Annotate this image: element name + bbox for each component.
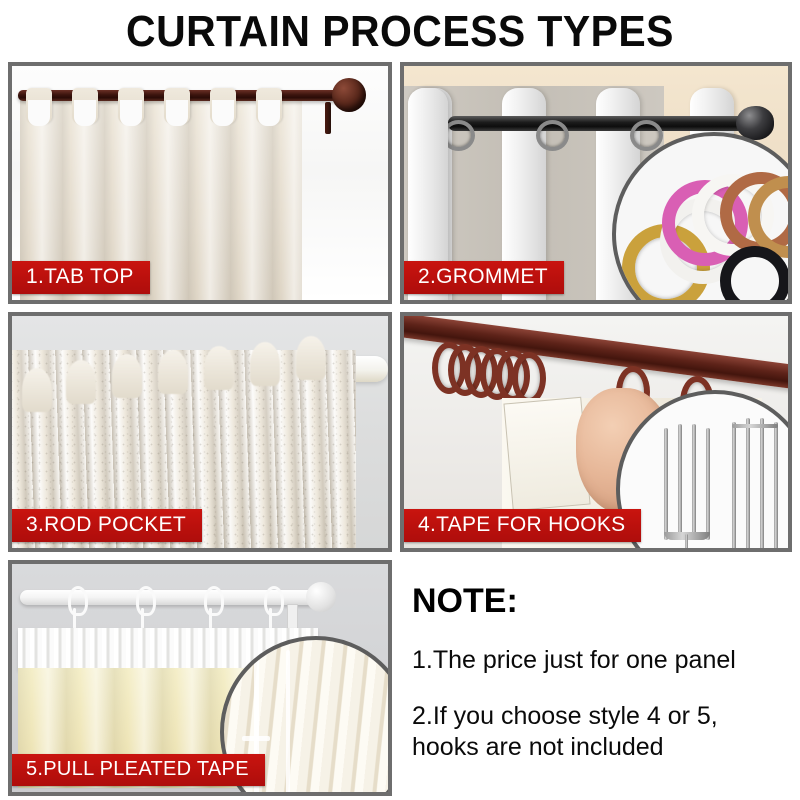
curtain-ring <box>512 352 546 404</box>
curtain-clip-ring <box>136 586 156 616</box>
note-line-2: 2.If you choose style 4 or 5, hooks are … <box>412 701 790 763</box>
pleat-hook-icon <box>664 428 668 540</box>
panel-tape-for-hooks[interactable]: 4.TAPE FOR HOOKS <box>400 312 792 552</box>
tab-gap <box>74 100 96 126</box>
pleat-hook-crossbar <box>732 424 778 428</box>
grommet-ring <box>630 120 663 151</box>
curtain-rod <box>448 116 748 131</box>
gather-crest <box>22 368 52 412</box>
tape-cord <box>286 650 290 792</box>
tab-gap <box>166 100 188 126</box>
gather-crest <box>66 360 96 404</box>
page-title: CURTAIN PROCESS TYPES <box>28 6 772 58</box>
rod-bracket <box>325 102 331 134</box>
pleat-hook-icon <box>746 418 750 548</box>
pleat-hook-icon <box>774 422 778 548</box>
panel-caption: 2.GROMMET <box>404 261 564 294</box>
pleat-hook-icon <box>706 428 710 540</box>
panel-caption: 4.TAPE FOR HOOKS <box>404 509 641 542</box>
pleat-hook-icon <box>678 424 682 540</box>
curtain-clip-ring <box>204 586 224 616</box>
pleat-hook-icon <box>760 418 764 548</box>
infographic-page: CURTAIN PROCESS TYPES 1.TAB TOP <box>0 0 800 800</box>
curtain-clip-ring <box>264 586 284 616</box>
grommet-ring <box>536 120 569 151</box>
tab-gap <box>258 100 280 126</box>
panel-caption: 1.TAB TOP <box>12 261 150 294</box>
tab-gap <box>212 100 234 126</box>
note-title: NOTE: <box>412 582 518 621</box>
panel-grommet[interactable]: 2.GROMMET <box>400 62 792 304</box>
tape-cord <box>242 736 270 741</box>
panel-caption: 5.PULL PLEATED TAPE <box>12 754 265 786</box>
panel-pull-pleated-tape[interactable]: 5.PULL PLEATED TAPE <box>8 560 392 796</box>
rod-finial-icon <box>306 582 336 612</box>
note-line-1: 1.The price just for one panel <box>412 646 790 675</box>
pleat-hook-stem <box>685 534 688 548</box>
pleat-hook-icon <box>692 424 696 540</box>
panel-rod-pocket[interactable]: 3.ROD POCKET <box>8 312 392 552</box>
curtain-clip-ring <box>68 586 88 616</box>
panel-tab-top[interactable]: 1.TAB TOP <box>8 62 392 304</box>
gather-crest <box>204 346 234 390</box>
rod-finial-icon <box>332 78 366 112</box>
gather-crest <box>296 336 326 380</box>
tab-gap <box>28 100 50 126</box>
note-block: NOTE: 1.The price just for one panel 2.I… <box>410 566 792 792</box>
gather-crest <box>112 354 142 398</box>
panel-caption: 3.ROD POCKET <box>12 509 202 542</box>
pleat-hook-icon <box>732 422 736 548</box>
gather-crest <box>158 350 188 394</box>
gather-crest <box>250 342 280 386</box>
tab-gap <box>120 100 142 126</box>
